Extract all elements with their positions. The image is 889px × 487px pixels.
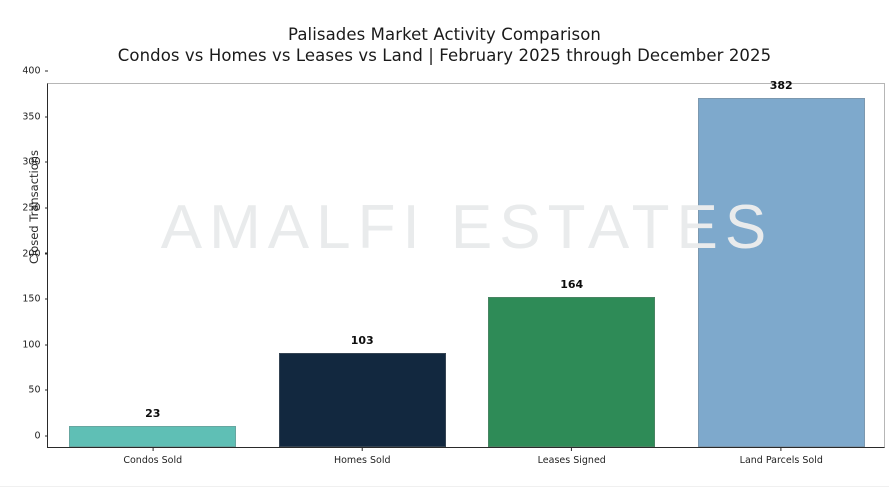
x-axis-tick-label: Homes Sold bbox=[334, 455, 391, 466]
bar-value-label: 23 bbox=[69, 407, 236, 420]
bar-value-label: 382 bbox=[698, 79, 865, 92]
y-axis-tick: 0 bbox=[34, 431, 48, 442]
y-axis-tick: 300 bbox=[22, 157, 48, 168]
x-axis-tick: Condos Sold bbox=[123, 447, 182, 466]
y-axis-tick-mark bbox=[45, 70, 49, 71]
y-axis-tick-label: 0 bbox=[34, 431, 44, 442]
y-axis-tick: 150 bbox=[22, 294, 48, 305]
x-axis-tick-mark bbox=[781, 447, 782, 451]
y-axis-tick-label: 300 bbox=[22, 157, 44, 168]
y-axis-tick-label: 250 bbox=[22, 202, 44, 213]
bar-slot: 382 bbox=[698, 82, 865, 447]
y-axis-tick-label: 100 bbox=[22, 339, 44, 350]
chart-figure: Palisades Market Activity Comparison Con… bbox=[0, 0, 889, 487]
y-axis-tick-label: 150 bbox=[22, 294, 44, 305]
bar-value-label: 103 bbox=[279, 334, 446, 347]
x-axis-tick: Leases Signed bbox=[538, 447, 606, 466]
bar-value-label: 164 bbox=[488, 278, 655, 291]
y-axis-tick: 250 bbox=[22, 202, 48, 213]
y-axis-tick-label: 400 bbox=[22, 66, 44, 77]
y-axis-tick: 350 bbox=[22, 111, 48, 122]
chart-title: Palisades Market Activity Comparison bbox=[0, 24, 889, 45]
bar-land-parcels-sold[interactable] bbox=[698, 98, 865, 447]
bar-slot: 164 bbox=[488, 82, 655, 447]
bar-leases-signed[interactable] bbox=[488, 297, 655, 447]
y-axis-tick-label: 200 bbox=[22, 248, 44, 259]
y-axis-tick: 100 bbox=[22, 339, 48, 350]
x-axis-tick-label: Condos Sold bbox=[123, 455, 182, 466]
bar-homes-sold[interactable] bbox=[279, 353, 446, 447]
y-axis-tick-label: 350 bbox=[22, 111, 44, 122]
y-axis-tick: 200 bbox=[22, 248, 48, 259]
bar-series: 23103164382 bbox=[48, 82, 886, 447]
chart-title-block: Palisades Market Activity Comparison Con… bbox=[0, 24, 889, 67]
x-axis-tick-label: Land Parcels Sold bbox=[740, 455, 823, 466]
x-axis-tick: Land Parcels Sold bbox=[740, 447, 823, 466]
x-axis-tick-mark bbox=[152, 447, 153, 451]
plot-area: 050100150200250300350400 AMALFI ESTATES … bbox=[47, 83, 885, 448]
x-axis-tick: Homes Sold bbox=[334, 447, 391, 466]
y-axis-tick: 400 bbox=[22, 66, 48, 77]
y-axis-tick: 50 bbox=[28, 385, 48, 396]
x-axis-tick-mark bbox=[362, 447, 363, 451]
bar-condos-sold[interactable] bbox=[69, 426, 236, 447]
bar-slot: 23 bbox=[69, 82, 236, 447]
x-axis-tick-label: Leases Signed bbox=[538, 455, 606, 466]
chart-subtitle: Condos vs Homes vs Leases vs Land | Febr… bbox=[0, 45, 889, 66]
bar-slot: 103 bbox=[279, 82, 446, 447]
x-axis-tick-mark bbox=[571, 447, 572, 451]
y-axis-tick-label: 50 bbox=[28, 385, 44, 396]
